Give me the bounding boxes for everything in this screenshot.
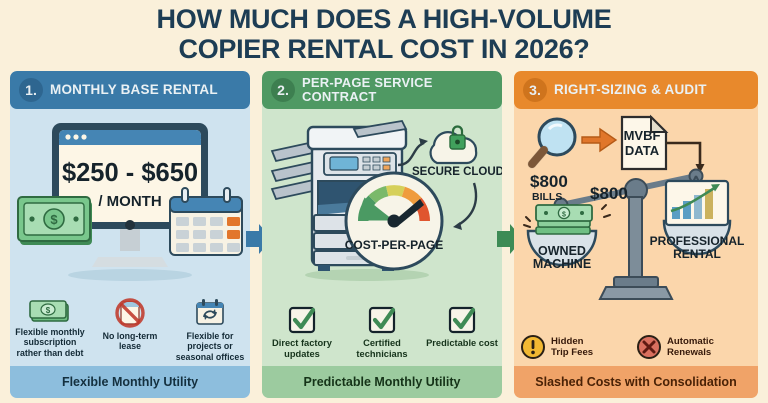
feature-automatic-renewals: Automatic Renewals: [636, 334, 752, 360]
checkbox-check-icon: [366, 305, 398, 335]
no-lease-prohibited-icon: [114, 298, 146, 328]
professional-rental-line1: PROFESSIONAL: [650, 234, 745, 248]
cost-per-page-gauge: COST-PER-PAGE: [345, 173, 443, 269]
feature-caption: Predictable cost: [426, 338, 498, 349]
panel1-number: 1.: [19, 78, 43, 102]
scale-left-sub: BILLS: [532, 191, 562, 203]
money-stack-graphic: $: [536, 205, 592, 234]
panel1-feature-list: $ Flexible monthly subscription rather t…: [10, 298, 250, 363]
svg-text:$: $: [50, 212, 58, 227]
owned-machine-line1: OWNED: [538, 244, 586, 258]
gauge-label: COST-PER-PAGE: [345, 238, 443, 252]
screen-price: $250 - $650: [62, 159, 198, 187]
feature-caption: Flexible monthly subscription rather tha…: [10, 327, 90, 359]
scale-left-amount: $800: [530, 172, 568, 191]
feature-certified-technicians: Certified technicians: [342, 305, 422, 360]
owned-machine-line2: MACHINE: [533, 257, 591, 271]
panel3-body: MVBF DATA: [514, 109, 758, 366]
panel2-header: 2. PER-PAGE SERVICE CONTRACT: [262, 71, 502, 109]
cash-stack-graphic: $: [18, 197, 92, 245]
panel1-title: MONTHLY BASE RENTAL: [50, 71, 244, 109]
panel3-number: 3.: [523, 78, 547, 102]
panel3-header: 3. RIGHT-SIZING & AUDIT: [514, 71, 758, 109]
panel3-footer: Slashed Costs with Consolidation: [514, 366, 758, 398]
panel3-feature-list: Hidden Trip Fees Automatic Renewals: [520, 334, 752, 360]
feature-caption: Certified technicians: [342, 338, 422, 360]
secure-cloud-label: SECURE CLOUD: [412, 166, 502, 178]
mvbf-label-line2: DATA: [625, 143, 660, 158]
checkbox-check-icon: [286, 305, 318, 335]
svg-text:$: $: [46, 306, 51, 315]
panel2-body: SECURE CLOUD: [262, 109, 502, 366]
mvbf-data-document: MVBF DATA: [622, 117, 666, 169]
orange-arrow-icon: [582, 129, 616, 151]
feature-caption: Direct factory updates: [262, 338, 342, 360]
circle-x-icon: [636, 334, 662, 360]
title-line-2: COPIER RENTAL COST IN 2026?: [0, 34, 768, 64]
feature-direct-factory-updates: Direct factory updates: [262, 305, 342, 360]
panel1-body: $250 - $650 / MONTH $: [10, 109, 250, 366]
infographic-canvas: HOW MUCH DOES A HIGH-VOLUME COPIER RENTA…: [0, 0, 768, 403]
feature-caption: No long-term lease: [90, 331, 170, 352]
calendar-refresh-icon: [193, 298, 227, 328]
feature-hidden-trip-fees: Hidden Trip Fees: [520, 334, 636, 360]
panel2-number: 2.: [271, 78, 295, 102]
mvbf-label-line1: MVBF: [624, 128, 661, 143]
monitor-illustration: $250 - $650 / MONTH $: [10, 109, 250, 289]
checkbox-check-icon: [446, 305, 478, 335]
panel-monthly-base-rental: 1. MONTHLY BASE RENTAL $250 - $65: [10, 71, 250, 398]
svg-text:$: $: [562, 212, 566, 219]
growth-chart-graphic: [666, 181, 728, 225]
panel2-feature-list: Direct factory updates Certified technic…: [262, 305, 502, 360]
warning-exclamation-icon: [520, 334, 546, 360]
cash-stack-icon: $: [29, 298, 71, 324]
panel-per-page-service-contract: 2. PER-PAGE SERVICE CONTRACT: [262, 71, 502, 398]
page-title: HOW MUCH DOES A HIGH-VOLUME COPIER RENTA…: [0, 4, 768, 64]
panel-right-sizing-and-audit: 3. RIGHT-SIZING & AUDIT MVBF: [514, 71, 758, 398]
panel2-footer: Predictable Monthly Utility: [262, 366, 502, 398]
feature-predictable-cost: Predictable cost: [422, 305, 502, 360]
professional-rental-line2: RENTAL: [673, 247, 721, 261]
feature-caption-line1: Automatic: [667, 336, 714, 347]
secure-cloud-graphic: [431, 127, 477, 164]
feature-caption: Flexible for projects or seasonal office…: [170, 331, 250, 363]
panel1-footer: Flexible Monthly Utility: [10, 366, 250, 398]
feature-flexible-projects: Flexible for projects or seasonal office…: [170, 298, 250, 363]
copier-illustration: SECURE CLOUD: [262, 109, 502, 289]
calendar-graphic: [170, 188, 242, 255]
panel3-title: RIGHT-SIZING & AUDIT: [554, 71, 752, 109]
panel2-title: PER-PAGE SERVICE CONTRACT: [302, 71, 496, 109]
feature-caption-block: Hidden Trip Fees: [551, 336, 593, 358]
feature-flexible-subscription: $ Flexible monthly subscription rather t…: [10, 298, 90, 363]
feature-caption-block: Automatic Renewals: [667, 336, 714, 358]
balance-scale-illustration: MVBF DATA: [514, 109, 758, 304]
feature-caption-line2: Trip Fees: [551, 347, 593, 358]
scale-left-amount-2: $800: [590, 184, 628, 203]
title-line-1: HOW MUCH DOES A HIGH-VOLUME: [157, 4, 612, 34]
panel1-header: 1. MONTHLY BASE RENTAL: [10, 71, 250, 109]
feature-no-long-term-lease: No long-term lease: [90, 298, 170, 363]
magnifier-graphic: [532, 119, 575, 164]
feature-caption-line1: Hidden: [551, 336, 593, 347]
feature-caption-line2: Renewals: [667, 347, 714, 358]
screen-period: / MONTH: [98, 193, 161, 210]
